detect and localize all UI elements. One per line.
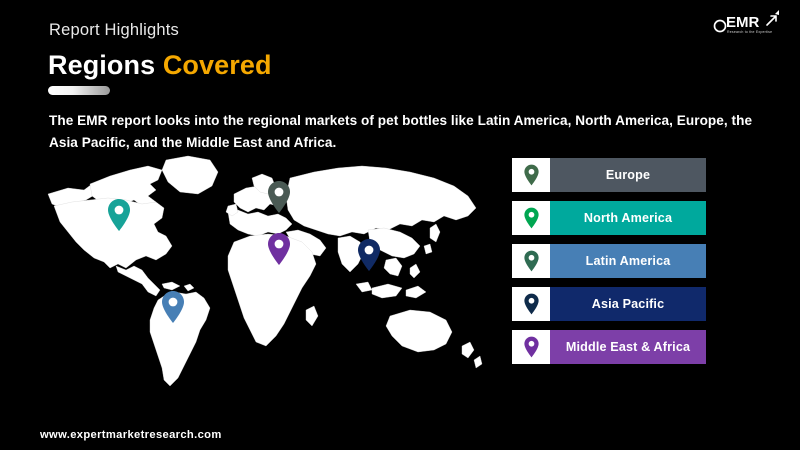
legend-item-asia-pacific[interactable]: Asia Pacific: [512, 287, 706, 321]
emr-logo: EMR Research to the Expertise: [712, 9, 788, 39]
legend-item-europe[interactable]: Europe: [512, 158, 706, 192]
svg-text:EMR: EMR: [726, 14, 760, 31]
legend-item-label: North America: [550, 201, 706, 235]
map-pin-icon: [512, 244, 550, 278]
legend-item-middle-east-africa[interactable]: Middle East & Africa: [512, 330, 706, 364]
map-pin-icon: [512, 201, 550, 235]
title-accent: Covered: [163, 50, 272, 80]
map-pin-asia-pacific[interactable]: [356, 238, 382, 272]
map-pin-europe[interactable]: [266, 180, 292, 214]
slide-canvas: Report Highlights Regions Covered EMR Re…: [0, 0, 800, 450]
svg-text:Research to the Expertise: Research to the Expertise: [727, 30, 772, 34]
region-legend: Europe North America Latin America Asia …: [512, 158, 706, 373]
legend-item-label: Asia Pacific: [550, 287, 706, 321]
legend-item-latin-america[interactable]: Latin America: [512, 244, 706, 278]
world-map: [38, 150, 512, 398]
description-text: The EMR report looks into the regional m…: [49, 110, 755, 154]
title-primary: Regions: [48, 50, 155, 80]
map-pin-icon: [512, 287, 550, 321]
legend-item-north-america[interactable]: North America: [512, 201, 706, 235]
map-pin-latin-america[interactable]: [160, 290, 186, 324]
page-title: Regions Covered: [48, 50, 272, 81]
legend-item-label: Middle East & Africa: [550, 330, 706, 364]
title-accent-bar: [48, 86, 110, 95]
map-pin-middle-east-africa[interactable]: [266, 232, 292, 266]
eyebrow-label: Report Highlights: [49, 21, 179, 40]
map-pin-icon: [512, 158, 550, 192]
map-pin-north-america[interactable]: [106, 198, 132, 232]
map-pin-icon: [512, 330, 550, 364]
legend-item-label: Europe: [550, 158, 706, 192]
footer-url[interactable]: www.expertmarketresearch.com: [40, 429, 222, 441]
legend-item-label: Latin America: [550, 244, 706, 278]
